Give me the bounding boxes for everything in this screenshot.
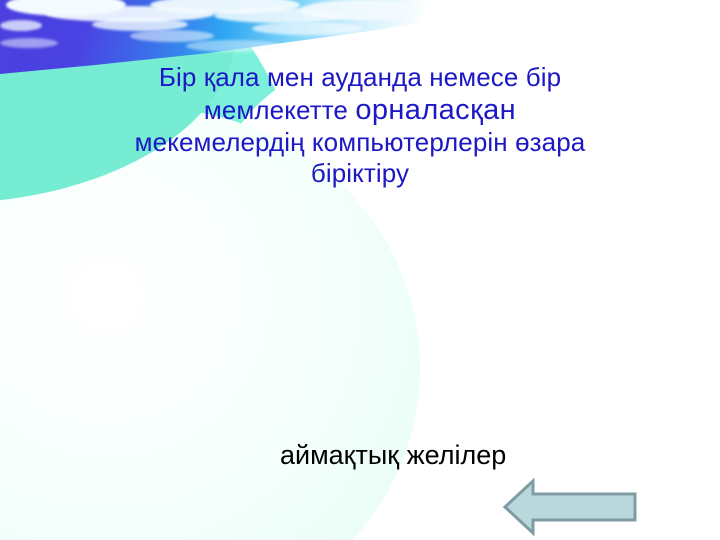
title-line-3-text: мекемелердің компьютерлерін өзара xyxy=(135,127,586,157)
cloud-shape xyxy=(130,30,214,42)
cloud-shape xyxy=(300,0,420,20)
cloud-shape xyxy=(186,40,282,52)
cloud-shape xyxy=(0,20,42,31)
slide-title: Бір қала мен ауданда немесе бір мемлекет… xyxy=(8,62,712,188)
title-line-3: мекемелердің компьютерлерін өзара xyxy=(8,127,712,158)
title-line-4-text: біріктіру xyxy=(311,158,409,188)
left-arrow-icon[interactable] xyxy=(503,478,637,536)
title-line-1-text: Бір қала мен ауданда немесе бір xyxy=(159,62,561,92)
slide-canvas: Бір қала мен ауданда немесе бір мемлекет… xyxy=(0,0,720,540)
title-line-2-emphasis: орналасқан xyxy=(355,94,516,126)
cloud-shape xyxy=(252,22,362,35)
title-line-1: Бір қала мен ауданда немесе бір xyxy=(8,62,712,93)
caption-text: аймақтық желілер xyxy=(280,440,506,471)
cloud-shape xyxy=(0,38,58,48)
title-line-4: біріктіру xyxy=(8,158,712,189)
title-line-2: мемлекетте орналасқан xyxy=(8,93,712,127)
title-line-2-text: мемлекетте xyxy=(204,95,355,125)
